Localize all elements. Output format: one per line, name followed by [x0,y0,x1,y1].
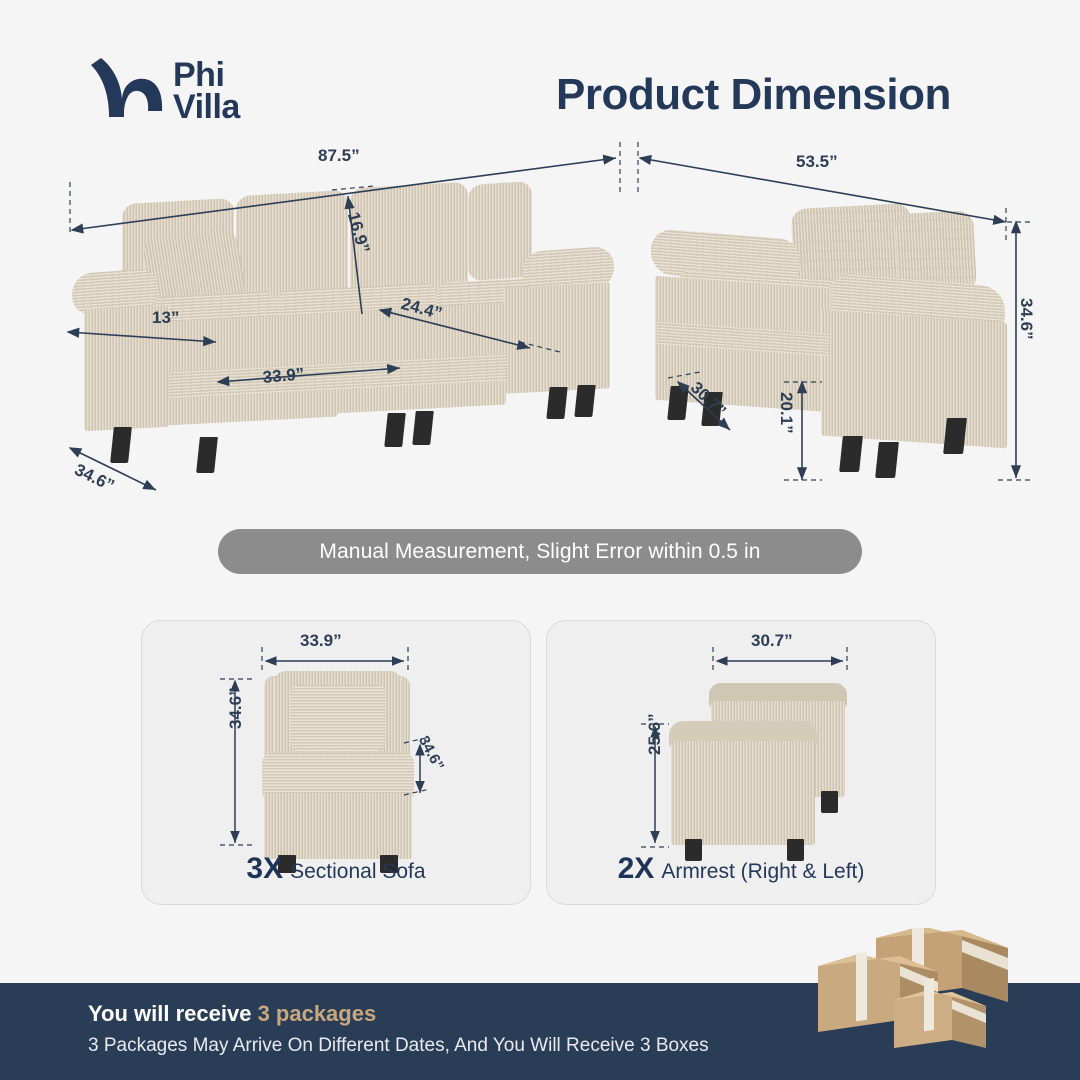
footer-headline: You will receive 3 packages [88,1001,376,1027]
measurement-note-banner: Manual Measurement, Slight Error within … [218,529,862,574]
dim-module-width: 33.9” [262,364,305,388]
card-dim-sofa-width: 33.9” [300,631,342,651]
package-card-armrest: 30.7” 25.6” 2XArmrest (Right & Left) [546,620,936,905]
brand-name-line1: Phi [173,59,240,91]
measurement-note-text: Manual Measurement, Slight Error within … [319,540,760,564]
sectional-sofa-qty: 3X [246,852,283,885]
page-title: Product Dimension [556,70,951,120]
footer-headline-accent: 3 packages [258,1001,377,1026]
armrest-label: Armrest (Right & Left) [661,860,864,883]
sectional-sofa-caption: 3XSectional Sofa [142,852,530,886]
phi-villa-swoosh-icon [85,55,163,127]
package-card-sectional-sofa: 33.9” 34.6” 34.6” 3XSectional Sofa [141,620,531,905]
card-dim-sofa-height: 34.6” [226,687,246,729]
card-dim-armrest-width: 30.7” [751,631,793,651]
dim-armrest-width: 13” [152,308,179,328]
armrest-caption: 2XArmrest (Right & Left) [547,852,935,886]
card-dim-armrest-height: 25.6” [645,713,665,755]
sectional-sofa-label: Sectional Sofa [290,860,425,883]
armrest-qty: 2X [618,852,655,885]
dim-seat-height: 20.1” [776,392,796,434]
dim-right-overall-height: 34.6” [1016,298,1036,340]
brand-logo: Phi Villa [85,55,240,127]
cardboard-boxes-icon [812,928,1052,1053]
hero-dimension-illustration: 87.5” 53.5” 16.9” 24.4” 13” 33.9” 34.6” … [0,130,1080,520]
dim-right-overall-width: 53.5” [796,152,838,172]
infographic-page: Phi Villa Product Dimension [0,0,1080,1080]
footer-subtext: 3 Packages May Arrive On Different Dates… [88,1035,709,1057]
brand-name: Phi Villa [173,59,240,124]
brand-name-line2: Villa [173,91,240,123]
dim-left-overall-width: 87.5” [318,146,360,166]
footer-headline-prefix: You will receive [88,1001,258,1026]
